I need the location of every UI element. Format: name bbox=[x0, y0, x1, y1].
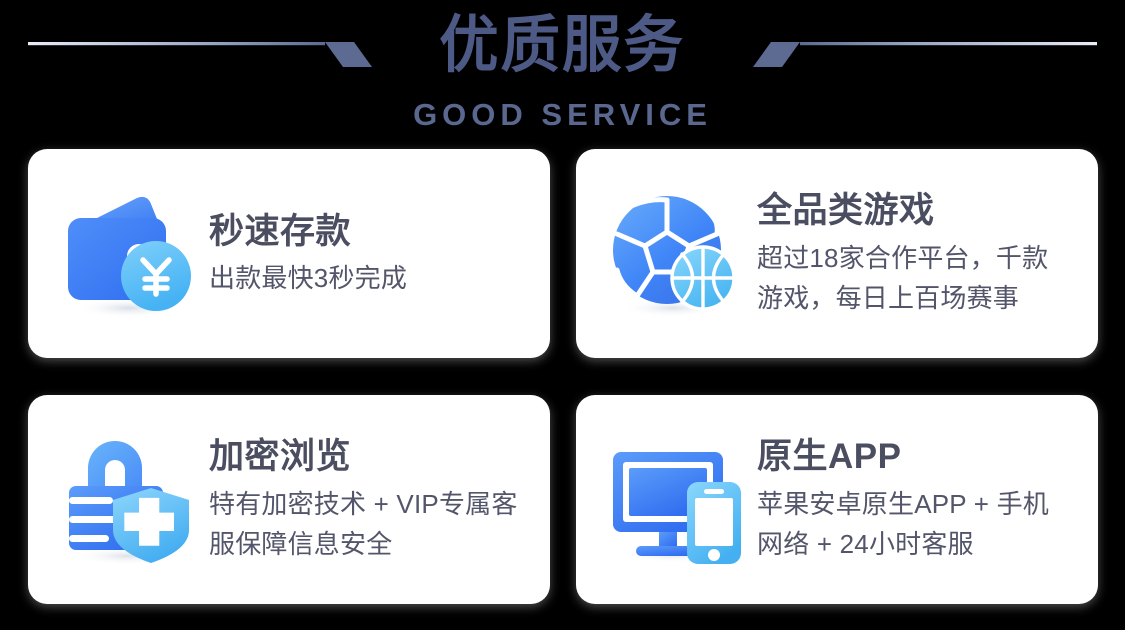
feature-card-desc-line: 出款最快3秒完成 bbox=[209, 259, 536, 297]
feature-card-title: 秒速存款 bbox=[209, 210, 536, 254]
feature-card-games[interactable]: 全品类游戏 超过18家合作平台，千款 游戏，每日上百场赛事 bbox=[576, 149, 1098, 358]
feature-card-text: 加密浏览 特有加密技术 + VIP专属客 服保障信息安全 bbox=[205, 435, 550, 564]
feature-card-desc: 特有加密技术 + VIP专属客 服保障信息安全 bbox=[209, 484, 536, 564]
feature-card-grid: 秒速存款 出款最快3秒完成 bbox=[28, 149, 1098, 611]
monitor-phone-icon bbox=[603, 430, 753, 570]
feature-card-desc-line: 特有加密技术 + VIP专属客 bbox=[209, 484, 536, 524]
feature-card-deposit[interactable]: 秒速存款 出款最快3秒完成 bbox=[28, 149, 550, 358]
wallet-yen-icon bbox=[55, 184, 205, 324]
feature-card-native-app[interactable]: 原生APP 苹果安卓原生APP + 手机 网络 + 24小时客服 bbox=[576, 395, 1098, 604]
feature-card-desc-line: 网络 + 24小时客服 bbox=[757, 524, 1084, 564]
feature-card-title: 全品类游戏 bbox=[757, 189, 1084, 233]
page-title-wrap: 优质服务 bbox=[0, 6, 1125, 86]
feature-card-desc: 苹果安卓原生APP + 手机 网络 + 24小时客服 bbox=[757, 484, 1084, 564]
feature-card-desc-line: 苹果安卓原生APP + 手机 bbox=[757, 484, 1084, 524]
feature-card-desc: 出款最快3秒完成 bbox=[209, 259, 536, 297]
feature-card-text: 原生APP 苹果安卓原生APP + 手机 网络 + 24小时客服 bbox=[753, 435, 1098, 564]
feature-card-desc: 超过18家合作平台，千款 游戏，每日上百场赛事 bbox=[757, 238, 1084, 318]
feature-card-text: 全品类游戏 超过18家合作平台，千款 游戏，每日上百场赛事 bbox=[753, 189, 1098, 318]
lock-shield-icon bbox=[55, 430, 205, 570]
feature-card-title: 原生APP bbox=[757, 435, 1084, 479]
feature-card-title: 加密浏览 bbox=[209, 435, 536, 479]
page-header: 优质服务 GOOD SERVICE bbox=[0, 0, 1125, 140]
feature-card-text: 秒速存款 出款最快3秒完成 bbox=[205, 210, 550, 297]
page-subtitle: GOOD SERVICE bbox=[0, 98, 1125, 132]
feature-card-desc-line: 服保障信息安全 bbox=[209, 524, 536, 564]
feature-card-encryption[interactable]: 加密浏览 特有加密技术 + VIP专属客 服保障信息安全 bbox=[28, 395, 550, 604]
page-title: 优质服务 bbox=[440, 6, 686, 86]
soccer-basketball-icon bbox=[603, 184, 753, 324]
feature-card-desc-line: 游戏，每日上百场赛事 bbox=[757, 278, 1084, 318]
feature-card-desc-line: 超过18家合作平台，千款 bbox=[757, 238, 1084, 278]
